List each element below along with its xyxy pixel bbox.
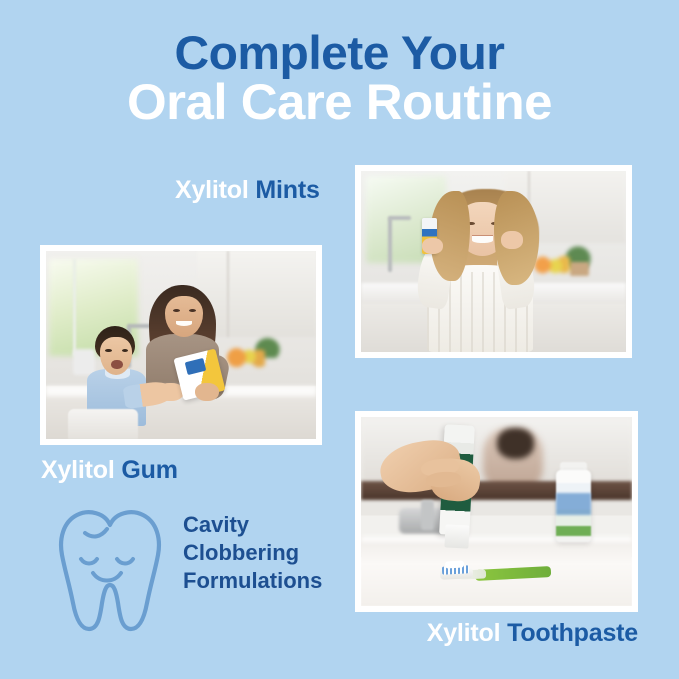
smiling-tooth-icon [55,503,165,633]
girl-left-hand [422,238,443,254]
fruit-bowl [227,345,265,368]
toothpaste-tube-cap [444,524,470,548]
label-toothpaste-brand: Xylitol [427,619,501,647]
mouthwash-bottle-label [556,493,591,516]
counter-highlight [361,536,632,542]
faucet-neck [388,218,392,272]
headline-line-2: Oral Care Routine [0,78,679,127]
boy-chair [68,409,138,439]
plant-pot [570,262,589,276]
label-mints-product: Mints [255,176,319,204]
promo-graphic: Complete Your Oral Care Routine Xylitol … [0,0,679,679]
girl-right-hand [501,231,522,249]
photo-frame-toothpaste [355,411,638,612]
photo-mints [361,171,626,352]
faucet-neck [421,500,435,530]
tagline-line-1: Cavity [183,511,322,539]
cavity-clobbering-badge: Cavity Clobbering Formulations [55,503,345,638]
headline-line-1: Complete Your [0,30,679,76]
label-toothpaste-product: Toothpaste [507,619,638,647]
label-mints-brand: Xylitol [175,176,249,204]
photo-frame-gum [40,245,322,445]
label-gum-product: Gum [121,456,177,484]
photo-toothpaste [361,417,632,606]
label-xylitol-mints: Xylitol Mints [175,176,320,205]
photo-gum [46,251,316,439]
window-mullion [73,259,76,357]
toothpaste-bead [445,560,464,568]
tagline: Cavity Clobbering Formulations [183,511,322,595]
label-xylitol-gum: Xylitol Gum [41,456,178,485]
tagline-line-2: Clobbering [183,539,322,567]
tagline-line-3: Formulations [183,567,322,595]
photo-frame-mints [355,165,632,358]
page-title: Complete Your Oral Care Routine [0,30,679,127]
cabinet-seam [227,251,229,337]
label-gum-brand: Xylitol [41,456,115,484]
reflected-person-hair [497,428,535,458]
counter-jar [73,349,95,375]
label-xylitol-toothpaste: Xylitol Toothpaste [427,619,638,648]
mother-hand [195,383,219,402]
